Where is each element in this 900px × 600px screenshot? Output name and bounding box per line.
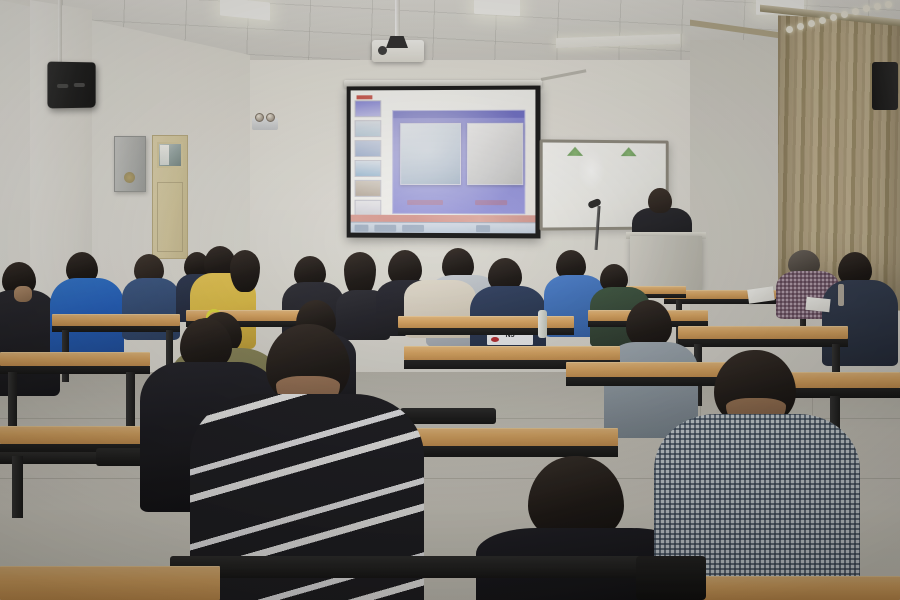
projector-lens-icon bbox=[378, 46, 387, 55]
classroom-photograph: CHANNI N5 bbox=[0, 0, 900, 600]
desk-row-3-center bbox=[404, 346, 620, 360]
taskbar-window-button[interactable] bbox=[402, 225, 424, 232]
whiteboard-glare bbox=[578, 150, 605, 191]
slide-photo-left bbox=[400, 123, 461, 185]
desk-leg bbox=[12, 456, 23, 518]
desk-row-2-right bbox=[398, 316, 574, 328]
wall-speaker-right bbox=[872, 62, 898, 110]
water-bottle bbox=[538, 310, 547, 338]
slide-caption-right bbox=[475, 200, 507, 205]
curtain-ring-icon bbox=[808, 20, 815, 27]
curtain-ring-icon bbox=[874, 3, 881, 10]
curtain-ring-icon bbox=[852, 8, 859, 15]
desk-rail-front bbox=[170, 556, 690, 578]
chair-back bbox=[400, 408, 496, 424]
curtain-ring-icon bbox=[841, 11, 848, 18]
curtain-ring-icon bbox=[819, 17, 826, 24]
curtain-ring-icon bbox=[885, 1, 892, 8]
attendee-face-profile bbox=[14, 286, 32, 302]
wall-electrical-panel bbox=[114, 136, 146, 192]
light-panel-center-right-icon bbox=[474, 0, 520, 16]
handout-paper-2 bbox=[805, 297, 830, 312]
windows-taskbar[interactable] bbox=[351, 222, 536, 234]
slide-thumbnail-3[interactable] bbox=[355, 140, 382, 157]
curtain-ring-icon bbox=[786, 26, 793, 33]
taskbar-window-button[interactable] bbox=[374, 225, 396, 232]
slide-photo-right bbox=[467, 123, 523, 185]
slide-logo-icon bbox=[357, 95, 373, 99]
taskbar-tray-icon[interactable] bbox=[476, 225, 490, 232]
door-window-glare bbox=[160, 145, 169, 165]
attendee-strap bbox=[838, 284, 844, 306]
slide-thumbnail-5[interactable] bbox=[355, 180, 382, 197]
desk-row-5-near-right bbox=[690, 576, 900, 600]
projection-screen-surface bbox=[351, 90, 536, 234]
slide-title-bar bbox=[393, 111, 524, 118]
slide-caption-left bbox=[407, 200, 443, 205]
taskbar-start-button[interactable] bbox=[355, 225, 369, 232]
desk-row-4-center bbox=[406, 428, 618, 446]
wall-speaker-left bbox=[47, 62, 95, 109]
desk-row-3-left bbox=[0, 352, 150, 366]
presenter-head bbox=[648, 188, 672, 213]
door-panel-detail bbox=[157, 182, 183, 252]
curtain-ring-icon bbox=[797, 23, 804, 30]
desk-row-3-right bbox=[678, 326, 848, 339]
desk-edge bbox=[406, 446, 618, 457]
jacket-print-dot-icon bbox=[491, 337, 499, 342]
head bbox=[230, 250, 260, 292]
lecture-podium bbox=[630, 236, 702, 290]
desk-edge bbox=[52, 326, 180, 332]
chair-back-front bbox=[636, 556, 706, 600]
speaker-mount-arm bbox=[58, 0, 62, 66]
emergency-light-fixture bbox=[252, 118, 278, 130]
curtain-ring-icon bbox=[863, 5, 870, 12]
panel-emblem-icon bbox=[124, 172, 135, 183]
projector-mount-pole bbox=[395, 0, 400, 42]
desk-edge bbox=[566, 377, 736, 386]
slide-thumbnail-1[interactable] bbox=[355, 100, 382, 117]
desk-row-2-left bbox=[52, 314, 180, 326]
powerpoint-slide bbox=[392, 110, 525, 215]
slide-thumbnail-4[interactable] bbox=[355, 160, 382, 177]
curtain-ring-icon bbox=[830, 14, 837, 21]
desk-edge bbox=[678, 339, 848, 347]
desk-edge bbox=[398, 328, 574, 335]
whiteboard-clip-icon bbox=[621, 147, 637, 156]
projection-screen bbox=[347, 86, 541, 239]
slide-thumbnail-rail[interactable] bbox=[355, 100, 384, 217]
head bbox=[626, 300, 672, 348]
desk-row-5-near bbox=[0, 566, 220, 600]
emergency-lamp-icon bbox=[266, 113, 275, 122]
desk-row-4-right bbox=[566, 362, 736, 377]
emergency-lamp-icon bbox=[255, 113, 264, 122]
slide-thumbnail-2[interactable] bbox=[355, 120, 382, 137]
